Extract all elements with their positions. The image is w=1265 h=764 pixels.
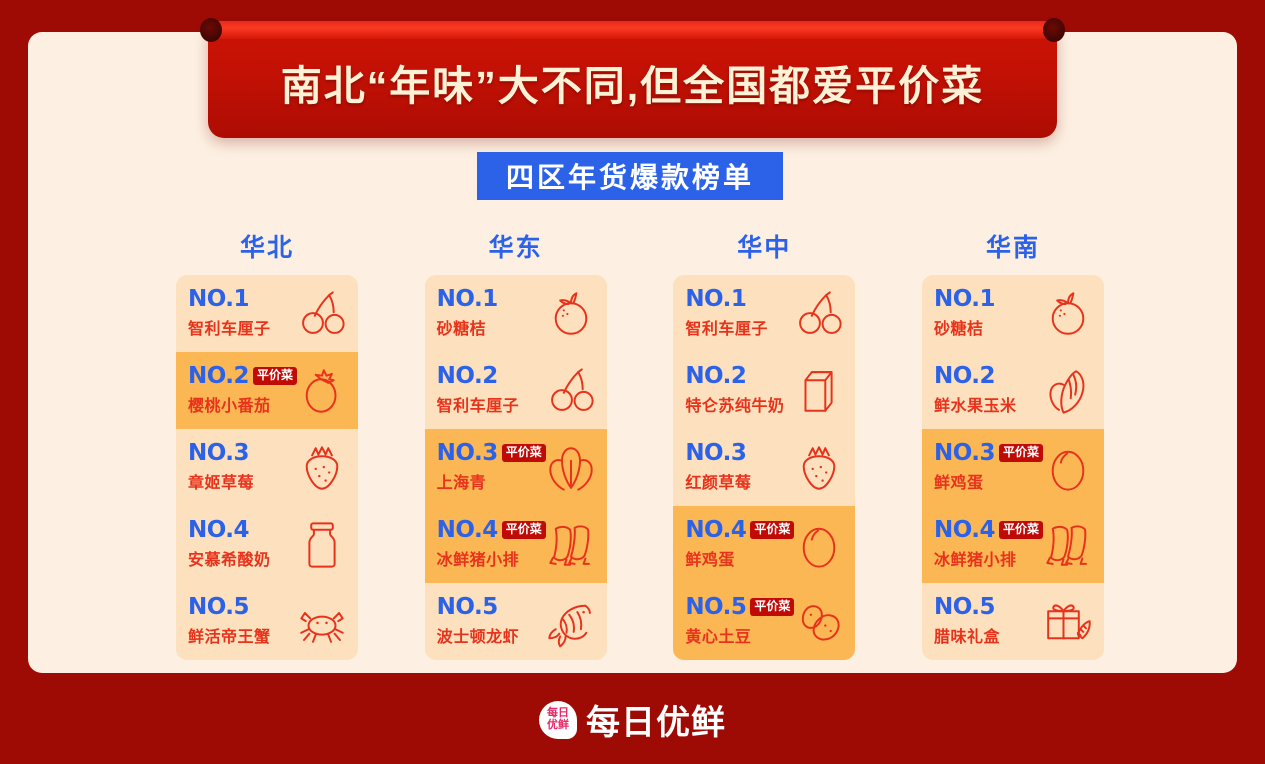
shrimp-icon xyxy=(544,595,598,649)
cherry-icon xyxy=(792,287,846,341)
rank-number: NO.3 xyxy=(934,442,995,465)
rank-number: NO.5 xyxy=(188,596,249,619)
rank-row[interactable]: NO.1砂糖桔 xyxy=(425,275,607,352)
ranking-panel: NO.1砂糖桔NO.2智利车厘子NO.3平价菜上海青NO.4平价菜冰鲜猪小排NO… xyxy=(425,275,607,660)
rank-number: NO.3 xyxy=(188,442,249,465)
subtitle-label: 四区年货爆款榜单 xyxy=(506,156,754,196)
rank-row[interactable]: NO.4平价菜冰鲜猪小排 xyxy=(425,506,607,583)
cheap-vegetable-badge: 平价菜 xyxy=(253,367,297,385)
subtitle-badge: 四区年货爆款榜单 xyxy=(477,152,783,200)
cherry-icon xyxy=(295,287,349,341)
cheap-vegetable-badge: 平价菜 xyxy=(999,444,1043,462)
rank-number: NO.4 xyxy=(685,519,746,542)
brand-mark-line2: 优鲜 xyxy=(547,720,569,732)
strawberry-icon xyxy=(295,441,349,495)
rank-row[interactable]: NO.3平价菜上海青 xyxy=(425,429,607,506)
ranking-panel: NO.1智利车厘子NO.2特仑苏纯牛奶NO.3红颜草莓NO.4平价菜鲜鸡蛋NO.… xyxy=(673,275,855,660)
rank-number: NO.1 xyxy=(437,288,498,311)
rank-number: NO.4 xyxy=(934,519,995,542)
rank-row[interactable]: NO.5波士顿龙虾 xyxy=(425,583,607,660)
yogurt-bottle-icon xyxy=(295,518,349,572)
rank-number: NO.3 xyxy=(685,442,746,465)
rank-row[interactable]: NO.3平价菜鲜鸡蛋 xyxy=(922,429,1104,506)
scroll-rod-bar xyxy=(210,21,1055,39)
cheap-vegetable-badge: 平价菜 xyxy=(502,521,546,539)
brand-name: 每日优鲜 xyxy=(586,695,726,744)
orange-icon xyxy=(1041,287,1095,341)
potato-icon xyxy=(792,595,846,649)
brand-mark-icon: 每日 优鲜 xyxy=(539,701,577,739)
scroll-rod-cap-right xyxy=(1043,18,1065,42)
ranking-column: 华南NO.1砂糖桔NO.2鲜水果玉米NO.3平价菜鲜鸡蛋NO.4平价菜冰鲜猪小排… xyxy=(922,228,1104,660)
ranking-panel: NO.1智利车厘子NO.2平价菜樱桃小番茄NO.3章姬草莓NO.4安慕希酸奶NO… xyxy=(176,275,358,660)
bok-choy-icon xyxy=(544,441,598,495)
rank-row[interactable]: NO.3红颜草莓 xyxy=(673,429,855,506)
rank-row[interactable]: NO.1砂糖桔 xyxy=(922,275,1104,352)
column-title: 华南 xyxy=(922,228,1104,264)
footer-logo: 每日 优鲜 每日优鲜 xyxy=(0,695,1265,744)
crab-icon xyxy=(295,595,349,649)
rank-row[interactable]: NO.1智利车厘子 xyxy=(673,275,855,352)
ranking-panel: NO.1砂糖桔NO.2鲜水果玉米NO.3平价菜鲜鸡蛋NO.4平价菜冰鲜猪小排NO… xyxy=(922,275,1104,660)
tomato-icon xyxy=(295,364,349,418)
cheap-vegetable-badge: 平价菜 xyxy=(999,521,1043,539)
rank-row[interactable]: NO.5腊味礼盒 xyxy=(922,583,1104,660)
ranking-column: 华东NO.1砂糖桔NO.2智利车厘子NO.3平价菜上海青NO.4平价菜冰鲜猪小排… xyxy=(425,228,607,660)
corn-icon xyxy=(1041,364,1095,418)
rank-number: NO.5 xyxy=(437,596,498,619)
scroll-rod-cap-left xyxy=(200,18,222,42)
ranking-column: 华北NO.1智利车厘子NO.2平价菜樱桃小番茄NO.3章姬草莓NO.4安慕希酸奶… xyxy=(176,228,358,660)
rank-number: NO.2 xyxy=(934,365,995,388)
orange-icon xyxy=(544,287,598,341)
rank-row[interactable]: NO.5平价菜黄心土豆 xyxy=(673,583,855,660)
cheap-vegetable-badge: 平价菜 xyxy=(750,521,794,539)
rank-number: NO.4 xyxy=(188,519,249,542)
rank-number: NO.2 xyxy=(188,365,249,388)
ranking-columns: 华北NO.1智利车厘子NO.2平价菜樱桃小番茄NO.3章姬草莓NO.4安慕希酸奶… xyxy=(176,228,1104,660)
cheap-vegetable-badge: 平价菜 xyxy=(502,444,546,462)
column-title: 华北 xyxy=(176,228,358,264)
rank-row[interactable]: NO.2特仑苏纯牛奶 xyxy=(673,352,855,429)
rank-row[interactable]: NO.4安慕希酸奶 xyxy=(176,506,358,583)
rank-number: NO.1 xyxy=(934,288,995,311)
rank-number: NO.3 xyxy=(437,442,498,465)
column-title: 华东 xyxy=(425,228,607,264)
rank-row[interactable]: NO.3章姬草莓 xyxy=(176,429,358,506)
rank-row[interactable]: NO.1智利车厘子 xyxy=(176,275,358,352)
rank-number: NO.5 xyxy=(934,596,995,619)
cheap-vegetable-badge: 平价菜 xyxy=(750,598,794,616)
rank-row[interactable]: NO.2智利车厘子 xyxy=(425,352,607,429)
egg-icon xyxy=(1041,441,1095,495)
gift-box-icon xyxy=(1041,595,1095,649)
brand-mark-line1: 每日 xyxy=(547,708,569,720)
rank-number: NO.1 xyxy=(188,288,249,311)
rank-number: NO.1 xyxy=(685,288,746,311)
rank-number: NO.5 xyxy=(685,596,746,619)
column-title: 华中 xyxy=(673,228,855,264)
rank-row[interactable]: NO.4平价菜冰鲜猪小排 xyxy=(922,506,1104,583)
rank-number: NO.2 xyxy=(437,365,498,388)
rank-row[interactable]: NO.5鲜活帝王蟹 xyxy=(176,583,358,660)
cherry-icon xyxy=(544,364,598,418)
rank-row[interactable]: NO.4平价菜鲜鸡蛋 xyxy=(673,506,855,583)
title-banner: 南北“年味”大不同,但全国都爱平价菜 xyxy=(208,26,1057,138)
rank-row[interactable]: NO.2鲜水果玉米 xyxy=(922,352,1104,429)
strawberry-icon xyxy=(792,441,846,495)
rank-row[interactable]: NO.2平价菜樱桃小番茄 xyxy=(176,352,358,429)
scroll-rod xyxy=(200,18,1065,42)
pork-ribs-icon xyxy=(1041,518,1095,572)
ranking-column: 华中NO.1智利车厘子NO.2特仑苏纯牛奶NO.3红颜草莓NO.4平价菜鲜鸡蛋N… xyxy=(673,228,855,660)
egg-icon xyxy=(792,518,846,572)
milk-carton-icon xyxy=(792,364,846,418)
pork-ribs-icon xyxy=(544,518,598,572)
rank-number: NO.2 xyxy=(685,365,746,388)
rank-number: NO.4 xyxy=(437,519,498,542)
page-title: 南北“年味”大不同,但全国都爱平价菜 xyxy=(281,52,984,112)
